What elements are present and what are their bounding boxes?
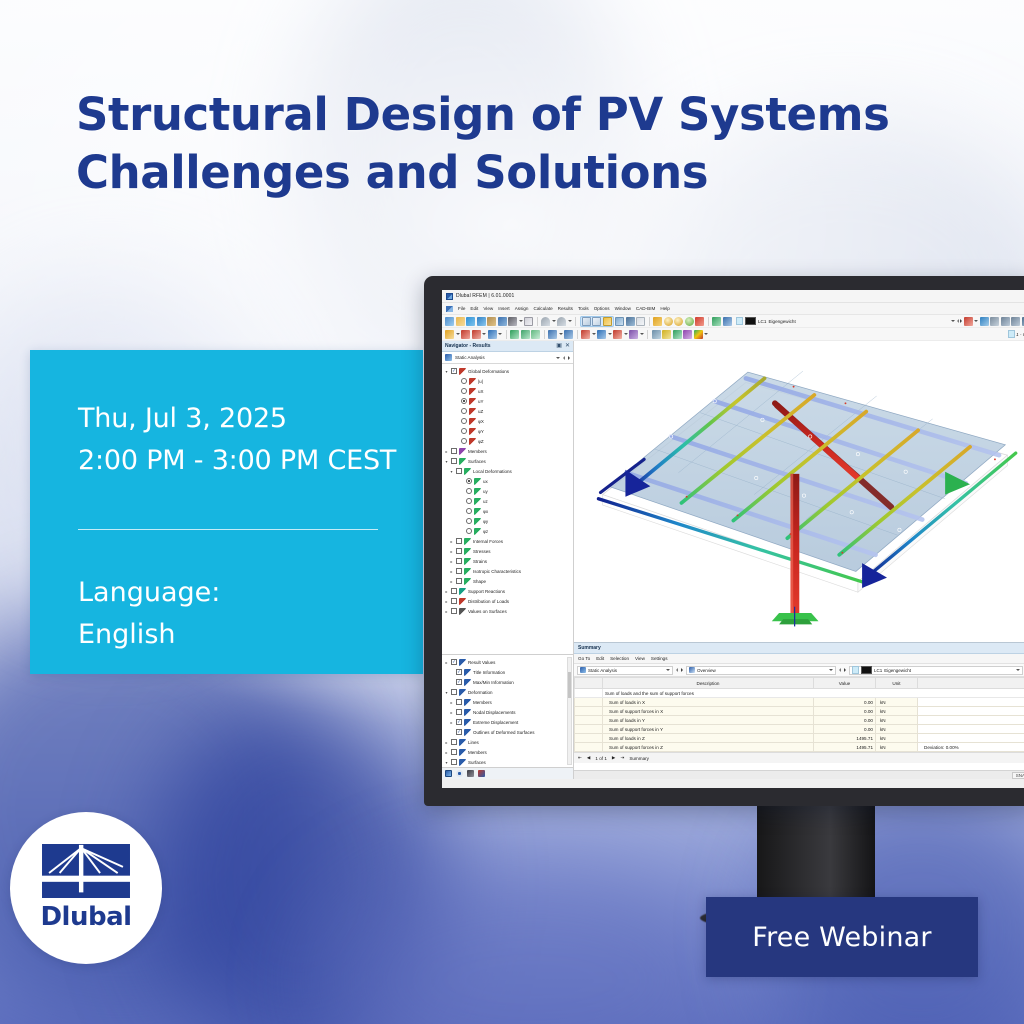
tree-item-icon [464, 709, 471, 716]
coord-system-swatch [1008, 330, 1015, 338]
menu-item-results[interactable]: Results [558, 306, 573, 311]
tree-checkbox[interactable]: ✓ [456, 719, 462, 725]
table-row[interactable]: Sum of loads in X0.00kN [575, 698, 1024, 707]
summary-view-label: Overview [697, 668, 827, 673]
tree-item[interactable]: ▾Surfaces [444, 456, 573, 466]
expander-closed-icon[interactable]: ▸ [449, 700, 454, 705]
tree-item-icon [464, 699, 471, 706]
status-snap[interactable]: SNAP [1012, 772, 1024, 779]
tree-item-label: |u| [478, 379, 483, 384]
tree-item-icon [474, 508, 481, 515]
print-icon[interactable] [508, 317, 517, 326]
expander-closed-icon[interactable]: ▸ [444, 599, 449, 604]
tree-item[interactable]: ▸Internal Forces [444, 536, 573, 546]
expander-closed-icon[interactable]: ▸ [444, 589, 449, 594]
row-index [575, 734, 603, 743]
expander-closed-icon[interactable]: ▸ [444, 740, 449, 745]
isometric-view-icon[interactable] [990, 317, 999, 326]
row-index [575, 716, 603, 725]
summary-analysis-combo[interactable]: Static Analysis [577, 666, 673, 675]
dlubal-bridge-icon [42, 844, 130, 899]
summary-lc-swatch [852, 666, 859, 674]
result-values-icon[interactable] [683, 330, 692, 339]
tree-item-label: Members [468, 750, 487, 755]
tree-radio[interactable] [466, 478, 472, 484]
navigator-analysis-combo[interactable]: Static Analysis [442, 352, 573, 364]
nodal-support-dropdown-caret[interactable] [559, 333, 563, 335]
tree-checkbox[interactable] [456, 558, 462, 564]
tree-item-label: Values on Surfaces [468, 609, 507, 614]
col-unit: Unit [876, 678, 918, 689]
summary-lc-caret[interactable] [1016, 669, 1020, 671]
tree-item[interactable]: φX [444, 416, 573, 426]
tree-checkbox[interactable]: ✓ [456, 679, 462, 685]
table-row[interactable]: Sum of support forces in X0.00kN [575, 707, 1024, 716]
summary-menu-selection[interactable]: Selection [610, 656, 629, 661]
tree-item[interactable]: ▸Members [444, 697, 573, 707]
tree-item[interactable]: uX [444, 386, 573, 396]
summary-menu-edit[interactable]: Edit [596, 656, 604, 661]
mesh-icon[interactable] [652, 330, 661, 339]
toolbar2-sep-1 [506, 330, 507, 339]
member-load-icon[interactable] [597, 330, 606, 339]
tree-radio[interactable] [461, 378, 467, 384]
summary-analysis-prev[interactable] [676, 668, 678, 672]
tree-item-label: Lines [468, 740, 479, 745]
node-icon[interactable] [445, 330, 454, 339]
panel-icon[interactable] [636, 317, 645, 326]
tree-item-icon [464, 548, 471, 555]
tree-item[interactable]: ▸Members [444, 446, 573, 456]
pager-prev-icon[interactable]: ◀ [587, 755, 591, 761]
zoom-out-icon[interactable] [674, 317, 683, 326]
load-display-icon[interactable] [723, 317, 732, 326]
analysis-type-icon [445, 354, 452, 361]
color-scale-dropdown-caret[interactable] [704, 333, 708, 335]
language-label: Language: [78, 572, 423, 614]
menu-item-help[interactable]: Help [660, 306, 669, 311]
pager-last-icon[interactable]: ⇥ [620, 755, 624, 761]
load-case-prev-arrow[interactable] [957, 319, 959, 323]
toolbar-row-2: 1 - Global [442, 328, 1024, 341]
tree-item[interactable]: uZ [444, 406, 573, 416]
redo-dropdown-caret[interactable] [568, 320, 572, 322]
tree-item-label: Nodal Displacements [473, 710, 516, 715]
tree-item-icon [464, 679, 471, 686]
summary-view-caret[interactable] [829, 669, 833, 671]
surface-load-icon[interactable] [613, 330, 622, 339]
load-case-name: Eigengewicht [768, 319, 795, 324]
measure-icon[interactable] [653, 317, 662, 326]
tree-checkbox[interactable] [456, 468, 462, 474]
nodal-support-icon[interactable] [548, 330, 557, 339]
toolbar2-sep-3 [577, 330, 578, 339]
tree-item-label: Internal Forces [473, 539, 503, 544]
nodal-load-icon[interactable] [581, 330, 590, 339]
cell-unit: kN [876, 743, 918, 752]
tree-item[interactable]: ▾Surfaces [444, 757, 573, 767]
navigator-tree-display[interactable]: ▸✓Result Values✓Title Information✓Max/Mi… [442, 655, 573, 767]
tree-item-icon [469, 418, 476, 425]
summary-lc-name: Eigengewicht [884, 668, 1014, 673]
tree-checkbox[interactable] [456, 709, 462, 715]
summary-menu-settings[interactable]: Settings [651, 656, 668, 661]
tree-item[interactable]: φz [444, 526, 573, 536]
tree-item-icon [469, 398, 476, 405]
tree-item-label: φz [483, 529, 488, 534]
tree-item[interactable]: ✓Title Information [444, 667, 573, 677]
tree-checkbox[interactable] [451, 759, 457, 765]
toolbar2-sep-4 [647, 330, 648, 339]
expander-closed-icon[interactable]: ▸ [449, 579, 454, 584]
tree-item[interactable]: ux [444, 476, 573, 486]
new-model-icon[interactable] [445, 317, 454, 326]
save-icon[interactable] [498, 317, 507, 326]
cell-description: Sum of support forces in Z [603, 743, 814, 752]
expander-open-icon[interactable]: ▾ [444, 690, 449, 695]
menu-item-calculate[interactable]: Calculate [534, 306, 553, 311]
pager-first-icon[interactable]: ⇤ [578, 755, 582, 761]
tree-checkbox[interactable] [456, 538, 462, 544]
color-scale-icon[interactable] [694, 330, 703, 339]
expander-closed-icon[interactable]: ▸ [449, 549, 454, 554]
expander-open-icon[interactable]: ▾ [444, 760, 449, 765]
print-dropdown-caret[interactable] [519, 320, 523, 322]
rfem-app-icon [446, 293, 453, 300]
navigator-tree-results[interactable]: ▾✓Global Deformations|u|uXuYuZφXφYφZ▸Mem… [442, 364, 573, 654]
tree-item-icon [459, 458, 466, 465]
tab-display-icon[interactable] [456, 770, 463, 777]
tree-item[interactable]: uz [444, 496, 573, 506]
expander-open-icon[interactable]: ▾ [449, 469, 454, 474]
opening-icon[interactable] [531, 330, 540, 339]
tree-radio[interactable] [466, 508, 472, 514]
tree-radio[interactable] [461, 388, 467, 394]
summary-view-icon [689, 667, 695, 673]
tree-checkbox[interactable] [456, 699, 462, 705]
view-column: Summary Go To Edit Selection View Settin… [574, 341, 1024, 779]
cell-description: Sum of support forces in Y [603, 725, 814, 734]
tab-printout-icon[interactable] [478, 770, 485, 777]
tree-item-label: ux [483, 479, 488, 484]
app-title-text: Dlubal RFEM | 6.01.0001 [456, 293, 514, 299]
tree-item[interactable]: φx [444, 506, 573, 516]
tree-item-icon [459, 739, 466, 746]
isolines-icon[interactable] [673, 330, 682, 339]
language-value: English [78, 614, 423, 656]
expander-open-icon[interactable]: ▾ [444, 459, 449, 464]
view-tabs-icon[interactable] [603, 317, 612, 326]
tree-checkbox[interactable]: ✓ [451, 368, 457, 374]
dimension-dropdown-caret[interactable] [482, 333, 486, 335]
tree-item-label: Isotropic Characteristics [473, 569, 521, 574]
expander-open-icon[interactable]: ▾ [444, 369, 449, 374]
grid-icon[interactable] [626, 317, 635, 326]
navigator-tabs [442, 767, 573, 779]
tree-item[interactable]: ▸Distribution of Loads [444, 596, 573, 606]
menu-item-edit[interactable]: Edit [470, 306, 478, 311]
tree-item[interactable]: ▸Isotropic Characteristics [444, 566, 573, 576]
summary-view-combo[interactable]: Overview [686, 666, 836, 675]
member-icon[interactable] [488, 330, 497, 339]
load-case-next-arrow[interactable] [960, 319, 962, 323]
line-support-icon[interactable] [564, 330, 573, 339]
col-value: Value [814, 678, 876, 689]
tree-checkbox[interactable] [451, 608, 457, 614]
toolbar-sep-1 [537, 317, 538, 326]
cell-note: Deviation: 0.00% [918, 743, 1024, 752]
tree-item[interactable]: ✓Max/Min Information [444, 677, 573, 687]
table-row[interactable]: Sum of support forces in Y0.00kN [575, 725, 1024, 734]
tree-radio[interactable] [461, 418, 467, 424]
tree-item-icon [459, 759, 466, 766]
tree-item-label: φx [483, 509, 488, 514]
tree-item-icon [459, 588, 466, 595]
tree-checkbox[interactable] [451, 749, 457, 755]
menu-item-file[interactable]: File [458, 306, 465, 311]
tree-radio[interactable] [466, 498, 472, 504]
tree-item-label: Deformation [468, 690, 493, 695]
zoom-window-icon[interactable] [695, 317, 704, 326]
cell-note [918, 734, 1024, 743]
analysis-next-arrow[interactable] [568, 356, 570, 360]
tree-radio[interactable] [466, 518, 472, 524]
tree-item[interactable]: ✓Outlines of Deformed Surfaces [444, 727, 573, 737]
summary-menu-view[interactable]: View [635, 656, 645, 661]
summary-analysis-next[interactable] [681, 668, 683, 672]
nodal-load-dropdown-caret[interactable] [592, 333, 596, 335]
tree-checkbox[interactable]: ✓ [456, 669, 462, 675]
tree-item-label: φY [478, 429, 484, 434]
free-webinar-button[interactable]: Free Webinar [706, 897, 978, 977]
summary-view-prev[interactable] [839, 668, 841, 672]
tree-item[interactable]: ▾Local Deformations [444, 466, 573, 476]
expander-closed-icon[interactable]: ▸ [449, 559, 454, 564]
deformation-display-icon[interactable] [964, 317, 973, 326]
table-row[interactable]: Sum of support forces in Z1495.71kNDevia… [575, 743, 1024, 752]
tree-item[interactable]: ▸Strains [444, 556, 573, 566]
view-split-icon[interactable] [592, 317, 601, 326]
view-xy-icon[interactable] [1001, 317, 1010, 326]
tree-item[interactable]: ▸Members [444, 747, 573, 757]
expander-closed-icon[interactable]: ▸ [444, 660, 449, 665]
load-case-dropdown-caret[interactable] [951, 320, 955, 322]
undo-dropdown-caret[interactable] [552, 320, 556, 322]
tree-checkbox[interactable] [456, 548, 462, 554]
expander-closed-icon[interactable]: ▸ [444, 750, 449, 755]
summary-lc-id: LC1 [874, 668, 882, 673]
monitor-bezel: Dlubal RFEM | 6.01.0001 File Edit View I… [424, 276, 1024, 806]
tree-radio[interactable] [461, 408, 467, 414]
printout-report-icon[interactable] [524, 317, 533, 326]
tree-item[interactable]: ▾✓Global Deformations [444, 366, 573, 376]
surface-load-dropdown-caret[interactable] [624, 333, 628, 335]
load-case-selector[interactable]: LC1 Eigengewicht [736, 317, 796, 325]
tree-item-icon [459, 598, 466, 605]
menu-item-options[interactable]: Options [594, 306, 610, 311]
col-index [575, 678, 603, 689]
summary-header: Summary [574, 643, 1024, 654]
summary-footer: ⇤ ◀ 1 of 1 ▶ ⇥ Summary [574, 752, 1024, 763]
group-label: Sum of loads and the sum of support forc… [603, 689, 1024, 698]
tree-item[interactable]: ▸Values on Surfaces [444, 606, 573, 616]
toolbar-row-1: LC1 Eigengewicht [442, 315, 1024, 328]
tree-checkbox[interactable]: ✓ [451, 659, 457, 665]
expander-closed-icon[interactable]: ▸ [444, 609, 449, 614]
tree-checkbox[interactable] [451, 458, 457, 464]
menu-item-assign[interactable]: Assign [515, 306, 529, 311]
cloud-save-icon[interactable] [477, 317, 486, 326]
tree-item[interactable]: ▾Deformation [444, 687, 573, 697]
tree-radio[interactable] [461, 398, 467, 404]
tree-radio[interactable] [461, 438, 467, 444]
zoom-fit-icon[interactable] [685, 317, 694, 326]
tree-item-icon [474, 528, 481, 535]
tree-checkbox[interactable] [456, 568, 462, 574]
menu-item-view[interactable]: View [483, 306, 493, 311]
tree-radio[interactable] [466, 488, 472, 494]
expander-closed-icon[interactable]: ▸ [449, 569, 454, 574]
tree-checkbox[interactable] [451, 448, 457, 454]
node-dropdown-caret[interactable] [456, 333, 460, 335]
tree-item[interactable]: ▸Nodal Displacements [444, 707, 573, 717]
menu-item-cad-bim[interactable]: CAD-BIM [636, 306, 655, 311]
tree-checkbox[interactable] [451, 598, 457, 604]
tree-radio[interactable] [461, 428, 467, 434]
tree-checkbox[interactable]: ✓ [456, 729, 462, 735]
tab-results-icon[interactable] [445, 770, 452, 777]
tree-item-label: Max/Min Information [473, 680, 514, 685]
col-description: Description [603, 678, 814, 689]
navigator-header: Navigator - Results ▣ ✕ [442, 341, 573, 352]
tree-checkbox[interactable] [451, 689, 457, 695]
line-icon[interactable] [461, 330, 470, 339]
render-mode-icon[interactable] [615, 317, 624, 326]
tree-item[interactable]: φZ [444, 436, 573, 446]
summary-lc-preview [861, 666, 872, 674]
navigator-scrollbar-thumb[interactable] [568, 672, 571, 698]
zoom-in-icon[interactable] [664, 317, 673, 326]
summary-loadcase-combo[interactable]: LC1 Eigengewicht [849, 666, 1023, 675]
model-3d-viewport[interactable] [574, 341, 1024, 642]
table-row[interactable]: Sum of loads in Y0.00kN [575, 716, 1024, 725]
load-case-id: LC1 [758, 319, 766, 324]
toolbar-sep-2 [575, 317, 576, 326]
free-load-icon[interactable] [629, 330, 638, 339]
dimension-line-icon[interactable] [472, 330, 481, 339]
solid-icon[interactable] [521, 330, 530, 339]
pager-next-icon[interactable]: ▶ [612, 755, 616, 761]
tree-item[interactable]: uy [444, 486, 573, 496]
member-dropdown-caret[interactable] [498, 333, 502, 335]
tree-item-label: Global Deformations [468, 369, 509, 374]
view-single-icon[interactable] [582, 317, 591, 326]
tree-item[interactable]: ▸Lines [444, 737, 573, 747]
tree-item[interactable]: φY [444, 426, 573, 436]
analysis-dropdown-caret[interactable] [556, 357, 560, 359]
tree-item[interactable]: |u| [444, 376, 573, 386]
navigator-float-icon[interactable]: ▣ [556, 343, 562, 349]
free-load-dropdown-caret[interactable] [640, 333, 644, 335]
tree-item-icon [469, 388, 476, 395]
tree-checkbox[interactable] [456, 578, 462, 584]
tree-item-icon [459, 608, 466, 615]
table-row[interactable]: Sum of loads in Z1495.71kN [575, 734, 1024, 743]
tree-item[interactable]: ▸Support Reactions [444, 586, 573, 596]
cell-value: 0.00 [814, 725, 876, 734]
view-layout-group [580, 316, 614, 327]
tree-item-icon [459, 689, 466, 696]
tree-item-label: φX [478, 419, 484, 424]
cell-description: Sum of support forces in X [603, 707, 814, 716]
dlubal-wordmark: Dlubal [40, 902, 131, 932]
tree-item-icon [459, 749, 466, 756]
rotate-view-icon[interactable] [980, 317, 989, 326]
app-workspace: Navigator - Results ▣ ✕ Static Analysis … [442, 341, 1024, 779]
deformation-dropdown-caret[interactable] [974, 320, 978, 322]
member-load-dropdown-caret[interactable] [608, 333, 612, 335]
undo-icon[interactable] [541, 317, 550, 326]
open-file-icon[interactable] [456, 317, 465, 326]
surface-icon[interactable] [510, 330, 519, 339]
tree-item-label: Support Reactions [468, 589, 505, 594]
menu-item-tools[interactable]: Tools [578, 306, 589, 311]
navigator-close-icon[interactable]: ✕ [565, 343, 570, 349]
tree-item-label: Local Deformations [473, 469, 512, 474]
menu-item-window[interactable]: Window [615, 306, 631, 311]
expander-closed-icon[interactable]: ▸ [444, 449, 449, 454]
support-display-icon[interactable] [712, 317, 721, 326]
tab-views-icon[interactable] [467, 770, 474, 777]
tree-item-icon [464, 558, 471, 565]
tree-item-label: Strains [473, 559, 487, 564]
tree-item[interactable]: ▸Stresses [444, 546, 573, 556]
tree-item[interactable]: φy [444, 516, 573, 526]
expander-closed-icon[interactable]: ▸ [449, 710, 454, 715]
summary-menubar: Go To Edit Selection View Settings [574, 654, 1024, 664]
redo-icon[interactable] [557, 317, 566, 326]
summary-menu-goto[interactable]: Go To [578, 656, 590, 661]
tree-radio[interactable] [466, 528, 472, 534]
tree-item-label: Outlines of Deformed Surfaces [473, 730, 535, 735]
row-index [575, 689, 603, 698]
cell-description: Sum of loads in Y [603, 716, 814, 725]
tree-item[interactable]: ▸✓Extreme Displacement [444, 717, 573, 727]
cloud-open-icon[interactable] [466, 317, 475, 326]
tree-item-icon [474, 518, 481, 525]
tree-item-label: uZ [478, 409, 483, 414]
tree-checkbox[interactable] [451, 588, 457, 594]
summary-analysis-caret[interactable] [666, 669, 670, 671]
cell-note [918, 716, 1024, 725]
summary-view-next[interactable] [844, 668, 846, 672]
archive-icon[interactable] [487, 317, 496, 326]
navigator-scrollbar[interactable] [567, 657, 572, 765]
view-xz-icon[interactable] [1011, 317, 1020, 326]
menu-item-insert[interactable]: Insert [498, 306, 510, 311]
summary-panel: Summary Go To Edit Selection View Settin… [574, 642, 1024, 770]
tree-checkbox[interactable] [451, 739, 457, 745]
tree-item[interactable]: ▸Shape [444, 576, 573, 586]
tree-item[interactable]: ▸✓Result Values [444, 657, 573, 667]
analysis-prev-arrow[interactable] [563, 356, 565, 360]
summary-tab-label[interactable]: Summary [629, 756, 649, 761]
tree-item[interactable]: uY [444, 396, 573, 406]
expander-closed-icon[interactable]: ▸ [449, 539, 454, 544]
expander-closed-icon[interactable]: ▸ [449, 720, 454, 725]
result-diagram-icon[interactable] [662, 330, 671, 339]
tree-item-icon [469, 378, 476, 385]
